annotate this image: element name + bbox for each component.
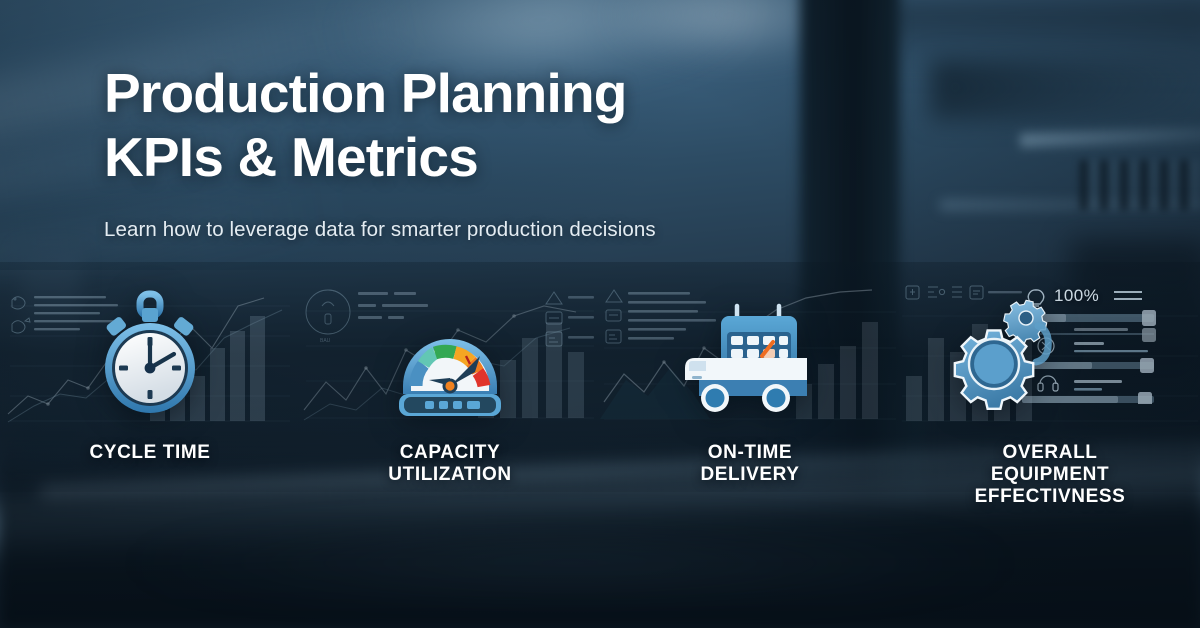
delivery-truck-calendar-icon: [675, 284, 825, 434]
stopwatch-icon: [85, 290, 215, 420]
gauge-icon: [385, 290, 515, 420]
kpi-artwork: BAU: [300, 276, 600, 436]
heading-block: Production Planning KPIs & Metrics Learn…: [104, 62, 864, 242]
kpi-artwork: [600, 276, 900, 436]
decorative-icon-column: [542, 288, 598, 352]
gear-icon: [934, 286, 1070, 422]
kpi-strip: CYCLE TIME: [0, 276, 1200, 506]
kpi-banner: Production Planning KPIs & Metrics Learn…: [0, 0, 1200, 628]
kpi-item-overall-equipment-effectiveness[interactable]: 100%: [900, 276, 1200, 506]
kpi-label: CAPACITY UTILIZATION: [300, 442, 600, 486]
kpi-item-on-time-delivery[interactable]: ON-TIME DELIVERY: [600, 276, 900, 506]
kpi-label: ON-TIME DELIVERY: [600, 442, 900, 486]
svg-text:BAU: BAU: [320, 338, 331, 344]
page-subtitle: Learn how to leverage data for smarter p…: [104, 218, 864, 242]
kpi-artwork: [0, 276, 300, 436]
kpi-label: CYCLE TIME: [0, 442, 300, 464]
kpi-item-capacity-utilization[interactable]: BAU: [300, 276, 600, 506]
page-title: Production Planning KPIs & Metrics: [104, 62, 864, 190]
kpi-item-cycle-time[interactable]: CYCLE TIME: [0, 276, 300, 506]
kpi-artwork: 100%: [900, 276, 1200, 436]
kpi-label: OVERALL EQUIPMENT EFFECTIVNESS: [900, 442, 1200, 508]
